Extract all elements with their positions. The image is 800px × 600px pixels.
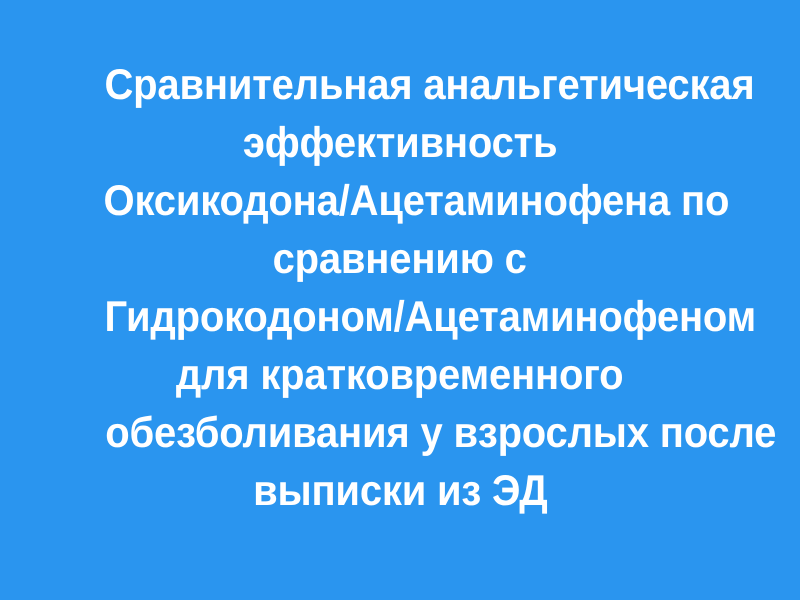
title-line-5: Гидрокодоном/Ацетаминофеном (80, 288, 720, 346)
title-line-3-text: Оксикодона/Ацетаминофена по (104, 172, 730, 230)
title-line-6-text: для кратковременного (176, 346, 624, 404)
title-slide: Сравнительная анальгетическая эффективно… (0, 0, 800, 600)
title-line-2-text: эффективность (243, 114, 558, 172)
title-line-4-text: сравнению с (273, 230, 527, 288)
title-line-2: эффективность (80, 114, 720, 172)
title-line-1-text: Сравнительная анальгетическая (104, 56, 754, 114)
title-line-7: обезболивания у взрослых после (80, 404, 720, 462)
title-line-7-text: обезболивания у взрослых после (105, 404, 776, 462)
title-line-4: сравнению с (80, 230, 720, 288)
title-line-8: выписки из ЭД (80, 462, 720, 520)
title-line-3: Оксикодона/Ацетаминофена по (80, 172, 720, 230)
title-line-8-text: выписки из ЭД (253, 462, 548, 520)
page-title: Сравнительная анальгетическая эффективно… (80, 56, 720, 520)
title-line-6: для кратковременного (80, 346, 720, 404)
title-line-1: Сравнительная анальгетическая (80, 56, 720, 114)
title-line-5-text: Гидрокодоном/Ацетаминофеном (105, 288, 757, 346)
